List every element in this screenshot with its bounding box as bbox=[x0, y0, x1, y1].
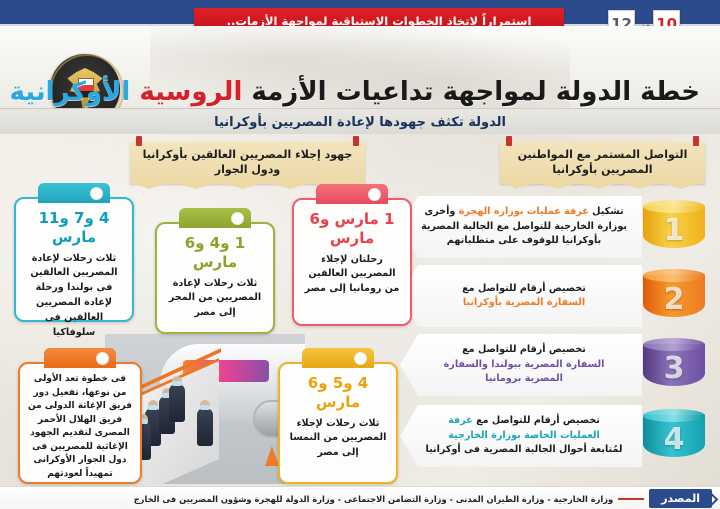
source-text: وزارة الخارجية - وزارة الطيران المدنى - … bbox=[134, 494, 613, 504]
numbered-item-4-plaque: تخصيص أرقام للتواصل مع غرفة العمليات الخ… bbox=[400, 405, 642, 467]
item-1-line2: بوزارة الخارجية للتواصل مع الجالية المصر… bbox=[421, 221, 627, 232]
card-date: 1 مارس و6 مارس bbox=[303, 210, 401, 248]
evacuation-card-romania: 1 مارس و6 مارس رحلتان لإجلاء المصريين ال… bbox=[292, 198, 412, 326]
card-text: ثلاث رحلات لإجلاء المصريين من النمسا إلى… bbox=[289, 417, 387, 462]
numbered-item-2-plaque: تخصيص أرقام للتواصل مع السفارة المصرية ب… bbox=[400, 265, 642, 327]
numbered-item-1-cylinder: 1 bbox=[643, 200, 705, 254]
page-title-part2: الروسية bbox=[139, 77, 242, 107]
page-title: خطة الدولة لمواجهة تداعيات الأزمة الروسي… bbox=[140, 78, 700, 108]
card-tab bbox=[316, 184, 388, 204]
page-title-part1: خطة الدولة لمواجهة تداعيات الأزمة bbox=[251, 77, 700, 107]
numbered-item-4-digit: 4 bbox=[643, 417, 705, 461]
item-1-line1-pre: تشكيل bbox=[589, 206, 624, 217]
card-tab-hole bbox=[231, 212, 244, 225]
card-date: 4 و7 و11 مارس bbox=[25, 209, 123, 247]
crew-member bbox=[169, 384, 185, 422]
source-divider bbox=[618, 498, 644, 500]
item-1-line3: بأوكرانيا للوقوف على متطلباتهم bbox=[447, 235, 601, 246]
item-1-line1-post: وأخرى bbox=[424, 206, 458, 217]
infographic-page: استمراراً لاتخاذ الخطوات الاستباقية لموا… bbox=[0, 0, 720, 509]
card-content: 1 و4 و6 مارس ثلاث رحلات لإعادة المصريين … bbox=[157, 224, 273, 330]
numbered-item-4-cylinder: 4 bbox=[643, 409, 705, 463]
numbered-item-2-digit: 2 bbox=[643, 277, 705, 321]
subtitle-band: الدولة تكثف جهودها لإعادة المصريين بأوكر… bbox=[0, 108, 720, 136]
item-4-line2: العمليات الخاصة بوزارة الخارجية bbox=[448, 430, 600, 441]
right-section-heading-text: التواصل المستمر مع المواطنين المصريين بأ… bbox=[500, 148, 705, 178]
card-text: رحلتان لإجلاء المصريين العالقين من رومان… bbox=[303, 253, 401, 298]
item-1-line1-highlight: غرفة عمليات بوزارة الهجرة bbox=[459, 206, 589, 217]
card-text: ثلاث رحلات لإعادة المصريين العالقين فى ب… bbox=[25, 252, 123, 341]
card-tab bbox=[44, 348, 116, 368]
card-tab-hole bbox=[354, 352, 367, 365]
numbered-item-1: تشكيل غرفة عمليات بوزارة الهجرة وأخرى بو… bbox=[400, 196, 705, 258]
evacuation-card-austria: 4 و5 و6 مارس ثلاث رحلات لإجلاء المصريين … bbox=[278, 362, 398, 484]
card-content: 4 و5 و6 مارس ثلاث رحلات لإجلاء المصريين … bbox=[280, 364, 396, 470]
card-date: 1 و4 و6 مارس bbox=[166, 234, 264, 272]
item-2-line1-pre: تخصيص أرقام للتواصل مع bbox=[462, 283, 586, 294]
numbered-item-2-cylinder: 2 bbox=[643, 269, 705, 323]
card-content: 1 مارس و6 مارس رحلتان لإجلاء المصريين ال… bbox=[294, 200, 410, 306]
card-date: 4 و5 و6 مارس bbox=[289, 374, 387, 412]
numbered-item-2: تخصيص أرقام للتواصل مع السفارة المصرية ب… bbox=[400, 265, 705, 327]
card-tab-hole bbox=[96, 352, 109, 365]
evacuation-card-hungary: 1 و4 و6 مارس ثلاث رحلات لإعادة المصريين … bbox=[155, 222, 275, 334]
card-tab bbox=[179, 208, 251, 228]
source-footer: المصدر وزارة الخارجية - وزارة الطيران ال… bbox=[0, 486, 720, 509]
item-3-line1-pre: تخصيص أرقام للتواصل مع bbox=[462, 344, 586, 355]
card-tab-hole bbox=[90, 187, 103, 200]
left-section-heading-text: جهود إجلاء المصريين العالقين بأوكرانيا و… bbox=[130, 148, 365, 178]
evacuation-card-poland-slovakia: 4 و7 و11 مارس ثلاث رحلات لإعادة المصريين… bbox=[14, 197, 134, 322]
card-text: فى خطوة تعد الأولى من نوعها، تفعيل دور ف… bbox=[27, 373, 133, 481]
traffic-cone bbox=[265, 446, 279, 466]
card-tab bbox=[38, 183, 110, 203]
item-2-line2: السفارة المصرية بأوكرانيا bbox=[463, 297, 585, 308]
card-content: فى خطوة تعد الأولى من نوعها، تفعيل دور ف… bbox=[20, 364, 140, 490]
card-text: ثلاث رحلات لإعادة المصريين من المجر إلى … bbox=[166, 277, 264, 322]
evacuation-card-red-crescent: فى خطوة تعد الأولى من نوعها، تفعيل دور ف… bbox=[18, 362, 142, 484]
numbered-item-1-plaque: تشكيل غرفة عمليات بوزارة الهجرة وأخرى بو… bbox=[400, 196, 642, 258]
header-area: المركز الإعلامى خطة الدولة لمواجهة تداعي… bbox=[0, 26, 720, 108]
numbered-item-1-digit: 1 bbox=[643, 208, 705, 252]
right-section-heading: التواصل المستمر مع المواطنين المصريين بأ… bbox=[500, 142, 705, 184]
left-section-heading: جهود إجلاء المصريين العالقين بأوكرانيا و… bbox=[130, 142, 365, 184]
subtitle-text: الدولة تكثف جهودها لإعادة المصريين بأوكر… bbox=[214, 115, 506, 130]
numbered-item-3-cylinder: 3 bbox=[643, 338, 705, 392]
item-4-line1-pre: تخصيص أرقام للتواصل مع bbox=[473, 415, 600, 426]
crew-member bbox=[197, 408, 213, 446]
item-3-line2: السفارة المصرية ببولندا والسفارة bbox=[444, 359, 605, 370]
item-3-line3: المصرية برومانيا bbox=[485, 373, 563, 384]
item-4-line3: لمُتابعة أحوال الجالية المصرية فى أوكران… bbox=[425, 444, 622, 455]
card-tab-hole bbox=[368, 188, 381, 201]
item-4-line1-highlight: غرفة bbox=[448, 415, 473, 426]
page-title-part3: الأوكرانية bbox=[10, 77, 131, 107]
numbered-item-3-digit: 3 bbox=[643, 346, 705, 390]
card-content: 4 و7 و11 مارس ثلاث رحلات لإعادة المصريين… bbox=[16, 199, 132, 350]
numbered-item-3: تخصيص أرقام للتواصل مع السفارة المصرية ب… bbox=[400, 334, 705, 396]
card-tab bbox=[302, 348, 374, 368]
numbered-item-4: تخصيص أرقام للتواصل مع غرفة العمليات الخ… bbox=[400, 405, 705, 467]
numbered-item-3-plaque: تخصيص أرقام للتواصل مع السفارة المصرية ب… bbox=[400, 334, 642, 396]
